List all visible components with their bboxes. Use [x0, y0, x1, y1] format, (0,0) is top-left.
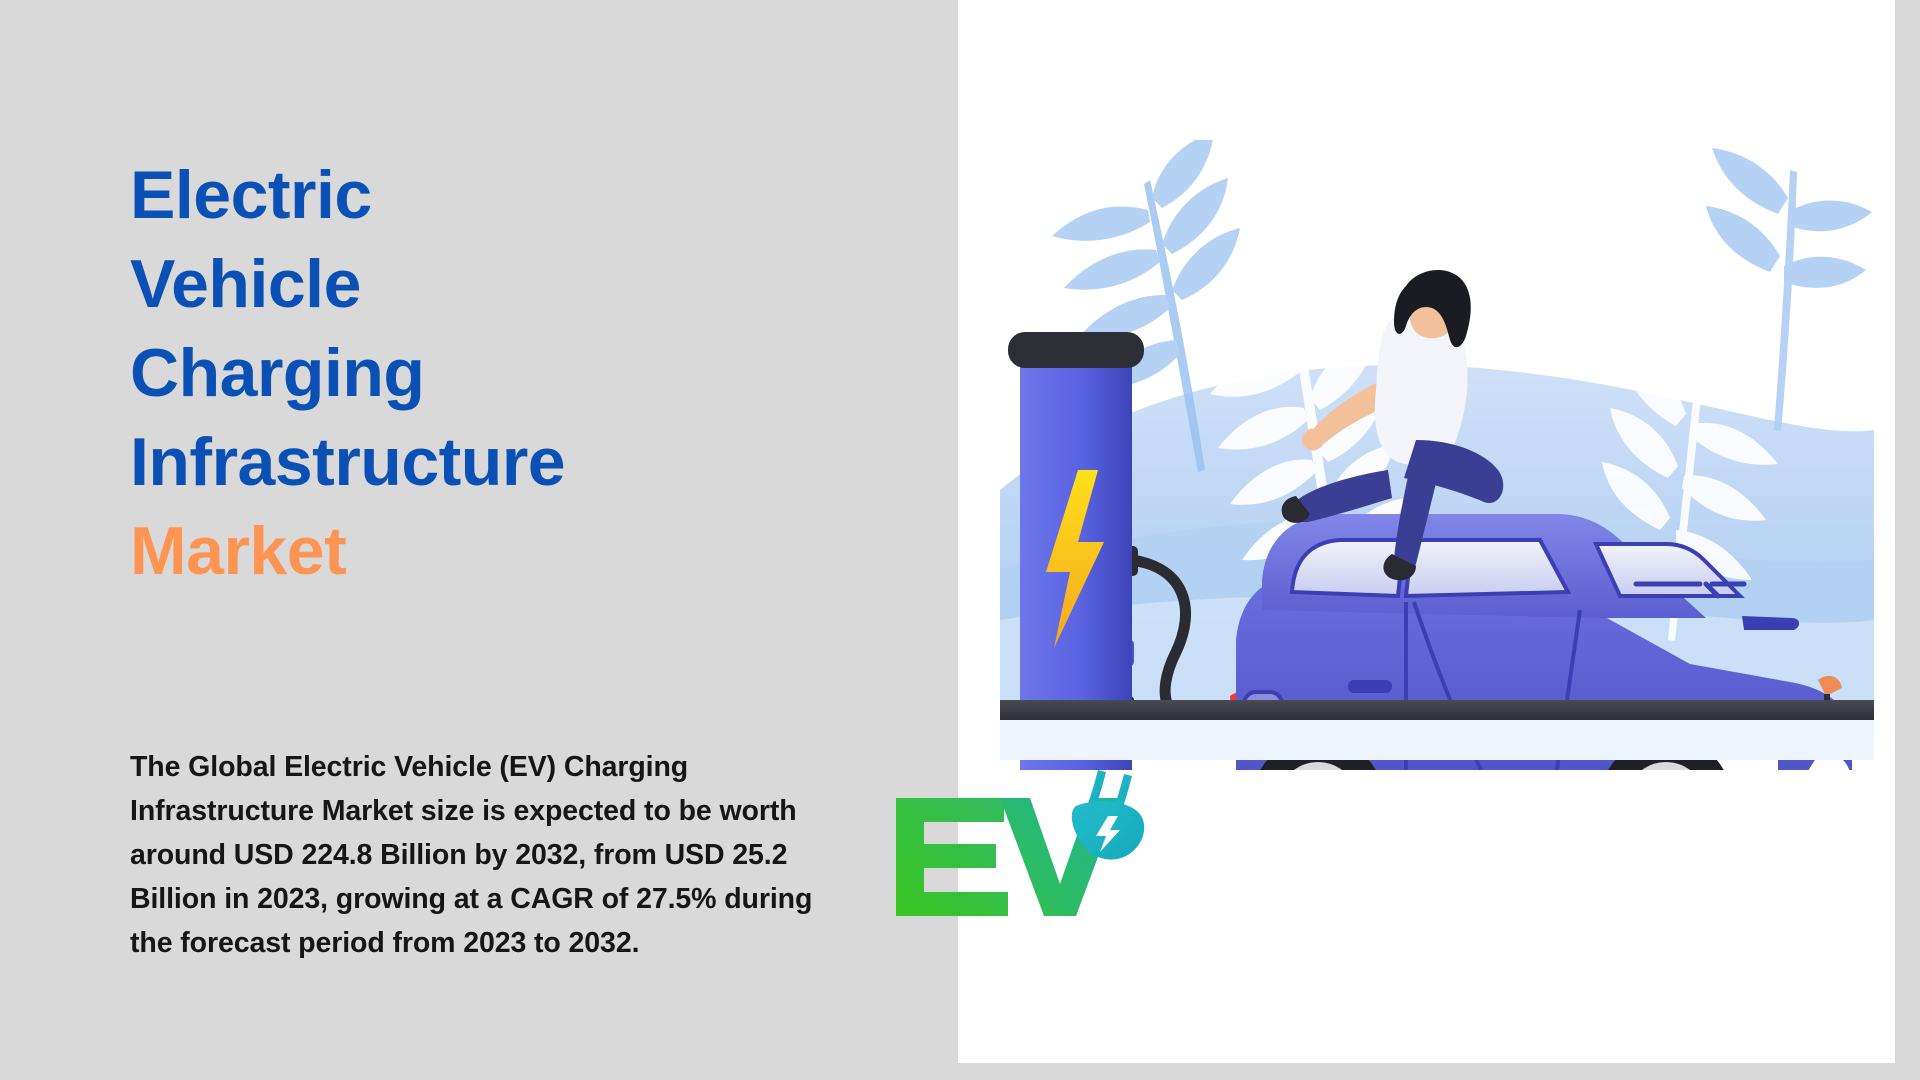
body-line-2: Infrastructure Market size is expected t…	[130, 789, 930, 833]
side-mirror	[1742, 616, 1799, 630]
ground-bar	[1000, 700, 1874, 720]
title-accent-word: Market	[130, 507, 830, 596]
body-line-3: around USD 224.8 Billion by 2032, from U…	[130, 833, 930, 877]
logo-letter-e	[896, 798, 1008, 916]
body-line-4: Billion in 2023, growing at a CAGR of 27…	[130, 877, 930, 921]
title-line-3: Charging	[130, 329, 830, 418]
poster-canvas: Electric Vehicle Charging Infrastructure…	[0, 0, 1920, 1080]
ev-charging-illustration	[1000, 140, 1874, 770]
market-summary-paragraph: The Global Electric Vehicle (EV) Chargin…	[130, 745, 930, 965]
rear-door-window	[1406, 540, 1568, 596]
left-content-panel: Electric Vehicle Charging Infrastructure…	[0, 0, 958, 1080]
station-cap	[1008, 332, 1144, 368]
right-visual-panel	[958, 0, 1895, 1063]
title-line-4: Infrastructure	[130, 418, 830, 507]
ev-logo	[880, 764, 1150, 954]
door-handle	[1348, 680, 1392, 693]
page-title: Electric Vehicle Charging Infrastructure…	[130, 151, 830, 596]
ground-shadow	[1000, 720, 1874, 760]
body-line-5: the forecast period from 2023 to 2032.	[130, 921, 930, 965]
title-line-1: Electric	[130, 151, 830, 240]
title-line-2: Vehicle	[130, 240, 830, 329]
body-line-1: The Global Electric Vehicle (EV) Chargin…	[130, 745, 930, 789]
